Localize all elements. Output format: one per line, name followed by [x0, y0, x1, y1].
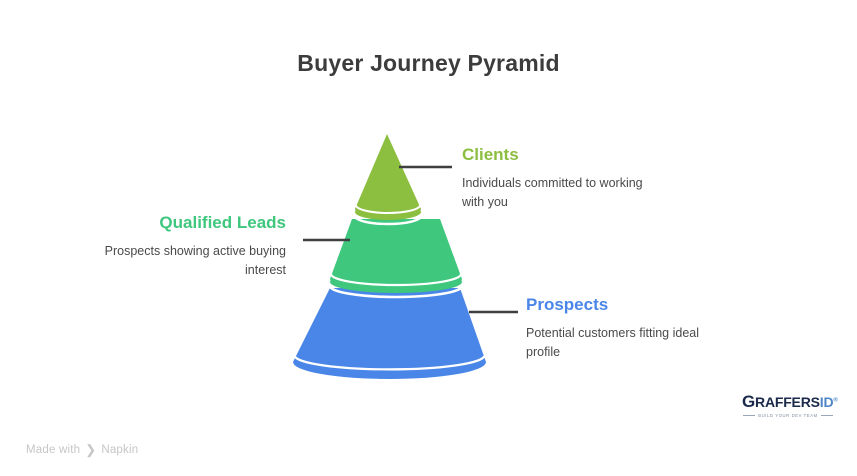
- graffersid-logo: GRAFFERSID® BUILD YOUR DEV TEAM: [742, 393, 834, 418]
- graffersid-tagline-row: BUILD YOUR DEV TEAM: [742, 413, 834, 418]
- graffersid-tagline: BUILD YOUR DEV TEAM: [758, 413, 817, 418]
- label-title-qualified-leads: Qualified Leads: [96, 213, 286, 233]
- pyramid-level-qualified-leads[interactable]: [330, 219, 462, 297]
- pyramid-level-clients[interactable]: [355, 134, 421, 224]
- napkin-brand-name: Napkin: [101, 444, 138, 456]
- graffersid-wordmark: GRAFFERSID®: [742, 393, 834, 410]
- clients-cone-body: [355, 134, 421, 217]
- label-block-clients[interactable]: Clients Individuals committed to working…: [462, 145, 652, 211]
- label-description-qualified-leads: Prospects showing active buying interest: [96, 242, 286, 278]
- label-description-prospects: Potential customers fitting ideal profil…: [526, 324, 736, 360]
- pyramid-level-prospects[interactable]: [293, 288, 486, 379]
- tagline-rule-right: [821, 415, 833, 416]
- label-title-clients: Clients: [462, 145, 652, 165]
- graffersid-trademark-icon: ®: [833, 397, 837, 403]
- napkin-logo-icon: ❯: [85, 443, 96, 456]
- qualified-frustum-body: [330, 219, 462, 290]
- graffersid-g: G: [742, 392, 755, 411]
- label-title-prospects: Prospects: [526, 295, 736, 315]
- napkin-watermark-text: Made with: [26, 444, 80, 456]
- tagline-rule-left: [743, 415, 755, 416]
- label-block-prospects[interactable]: Prospects Potential customers fitting id…: [526, 295, 736, 361]
- napkin-watermark[interactable]: Made with ❯ Napkin: [26, 443, 138, 456]
- graffersid-middle: RAFFERS: [755, 394, 820, 410]
- graffersid-id: ID: [820, 394, 834, 410]
- label-description-clients: Individuals committed to working with yo…: [462, 174, 652, 210]
- label-block-qualified-leads[interactable]: Qualified Leads Prospects showing active…: [96, 213, 286, 279]
